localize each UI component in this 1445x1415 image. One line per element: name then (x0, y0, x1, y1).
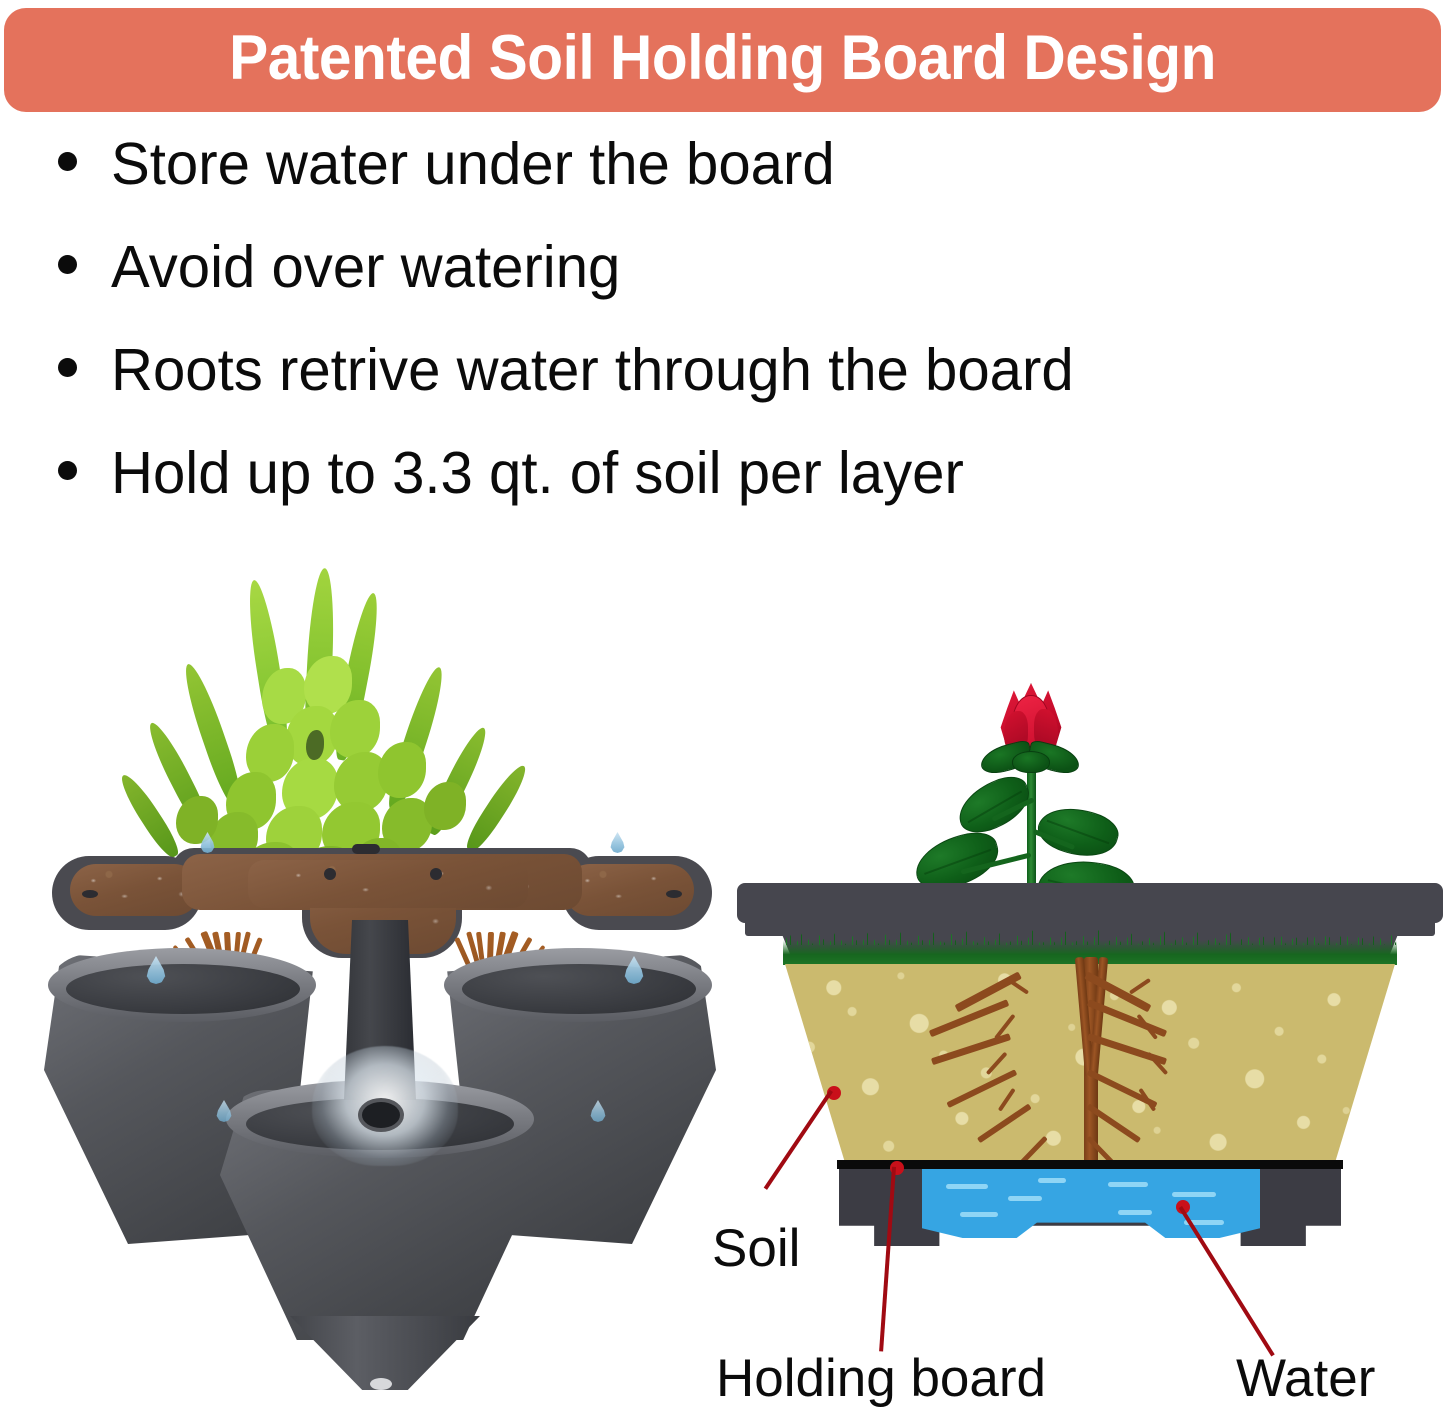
holding-board-line (837, 1160, 1343, 1169)
pot-cross-section-diagram (745, 665, 1435, 1225)
water-leader-line (1179, 1206, 1275, 1357)
list-item: Avoid over watering (0, 238, 1445, 341)
bullet-dot-icon (58, 358, 77, 377)
bullet-dot-icon (58, 461, 77, 480)
water-anchor-dot (1176, 1200, 1190, 1214)
water-droplet-icon (200, 832, 215, 853)
list-item: Store water under the board (0, 135, 1445, 238)
pot-rim (745, 883, 1435, 936)
page-title: Patented Soil Holding Board Design (229, 27, 1216, 94)
base-hole-icon (370, 1378, 392, 1390)
pot-lower-wall (839, 1168, 1341, 1246)
planter-pocket-front (220, 1090, 540, 1340)
list-item-label: Roots retrive water through the board (111, 341, 1074, 400)
bullet-dot-icon (58, 152, 77, 171)
planter-pocket-left (44, 954, 324, 1244)
holding-board-leader-line (879, 1167, 896, 1352)
planter-pocket-right (436, 954, 716, 1244)
water-droplet-icon (624, 956, 644, 984)
header-banner: Patented Soil Holding Board Design (4, 8, 1441, 112)
red-rose-icon (920, 665, 1160, 965)
water-droplet-icon (590, 1100, 606, 1122)
callout-label-holding-board: Holding board (716, 1352, 1046, 1405)
list-item: Roots retrive water through the board (0, 341, 1445, 444)
water-droplet-icon (146, 956, 166, 984)
pot-rim-lip-right (1391, 883, 1443, 923)
water-droplet-icon (610, 832, 625, 853)
callout-label-soil: Soil (712, 1222, 800, 1275)
feature-list: Store water under the board Avoid over w… (0, 135, 1445, 547)
pot-rim-lip-left (737, 883, 789, 923)
soil-anchor-dot (827, 1086, 841, 1100)
soil-layer (785, 964, 1395, 1162)
soil-holding-board (52, 828, 712, 958)
planter-cone-base (290, 1316, 480, 1390)
list-item-label: Avoid over watering (111, 238, 620, 297)
planter-pockets (30, 920, 730, 1390)
soil-leader-line (764, 1090, 833, 1190)
water-splash (312, 1046, 458, 1166)
root-system (990, 957, 1190, 1227)
water-reservoir (922, 1168, 1260, 1238)
bullet-dot-icon (58, 255, 77, 274)
grass-layer (783, 940, 1397, 965)
pot-upper-wall (779, 927, 1401, 965)
drain-hole (358, 1098, 404, 1132)
list-item-label: Store water under the board (111, 135, 835, 194)
stacking-planter-photo (30, 560, 730, 1390)
list-item: Hold up to 3.3 qt. of soil per layer (0, 444, 1445, 547)
list-item-label: Hold up to 3.3 qt. of soil per layer (111, 444, 964, 503)
water-droplet-icon (216, 1100, 232, 1122)
callout-label-water: Water (1236, 1352, 1375, 1405)
holding-board-anchor-dot (890, 1161, 904, 1175)
